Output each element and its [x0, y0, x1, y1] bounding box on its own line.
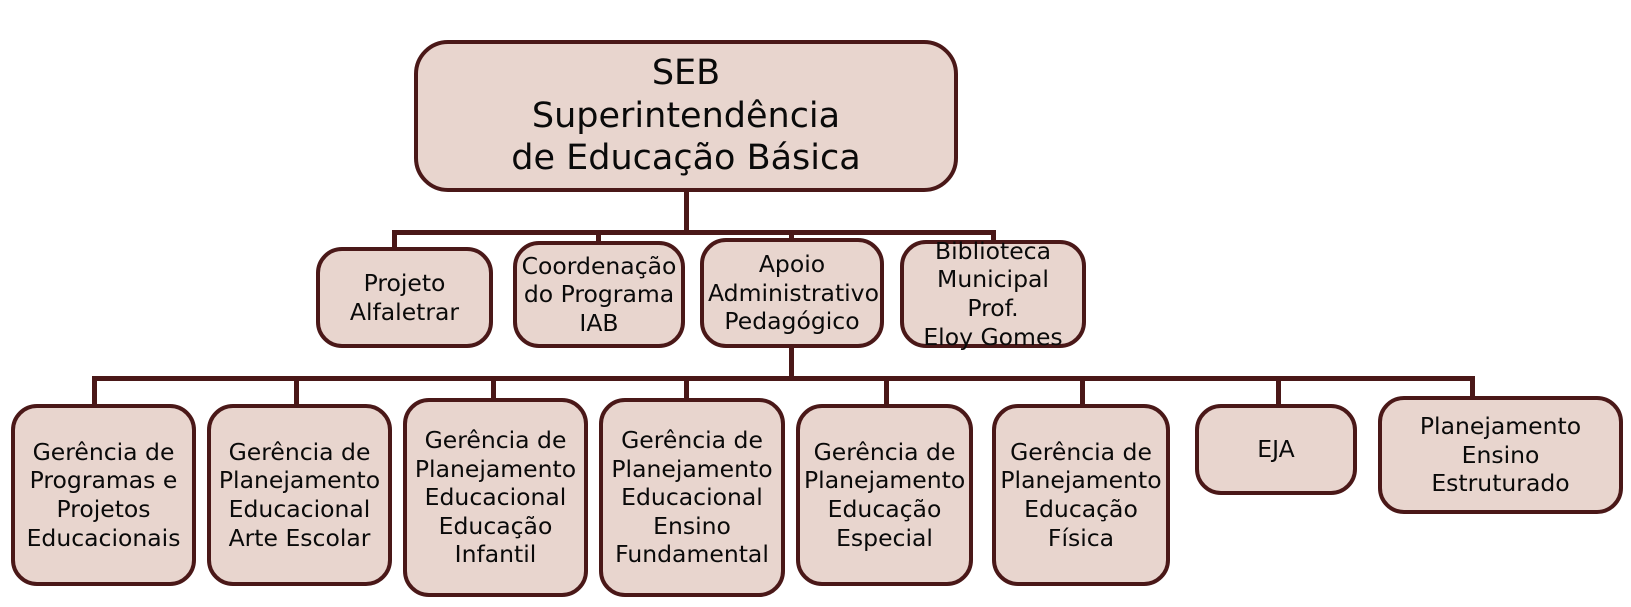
node-seb-root[interactable]: SEB Superintendência de Educação Básica	[414, 40, 958, 192]
connector-root-stem	[684, 190, 689, 234]
node-label: Gerência de Planejamento Educação Especi…	[800, 438, 969, 553]
node-projeto-alfaletrar[interactable]: Projeto Alfaletrar	[316, 247, 493, 348]
node-biblioteca-municipal-eloy-gomes[interactable]: Biblioteca Municipal Prof. Eloy Gomes	[900, 240, 1086, 348]
node-gerencia-planejamento-educacao-infantil[interactable]: Gerência de Planejamento Educacional Edu…	[403, 398, 588, 597]
node-gerencia-planejamento-ensino-fundamental[interactable]: Gerência de Planejamento Educacional Ens…	[599, 398, 785, 597]
node-eja[interactable]: EJA	[1195, 404, 1357, 495]
connector-level3-stem-6	[1080, 376, 1085, 407]
node-gerencia-planejamento-educacao-especial[interactable]: Gerência de Planejamento Educação Especi…	[796, 404, 973, 586]
node-label: EJA	[1199, 435, 1353, 464]
connector-level3-stem-1	[92, 376, 97, 407]
node-gerencia-planejamento-educacao-fisica[interactable]: Gerência de Planejamento Educação Física	[992, 404, 1170, 586]
node-gerencia-programas-projetos-educacionais[interactable]: Gerência de Programas e Projetos Educaci…	[11, 404, 196, 586]
connector-level3-stem-2	[294, 376, 299, 407]
node-label: Gerência de Planejamento Educação Física	[996, 438, 1166, 553]
node-label: Gerência de Programas e Projetos Educaci…	[15, 438, 192, 553]
node-label: Coordenação do Programa IAB	[517, 252, 681, 338]
node-label: Gerência de Planejamento Educacional Art…	[211, 438, 388, 553]
connector-level2-bus	[392, 230, 996, 235]
node-gerencia-planejamento-arte-escolar[interactable]: Gerência de Planejamento Educacional Art…	[207, 404, 392, 586]
node-coordenacao-programa-iab[interactable]: Coordenação do Programa IAB	[513, 241, 685, 348]
node-label: Projeto Alfaletrar	[320, 269, 489, 326]
connector-level3-bus	[92, 376, 1474, 381]
node-label: Gerência de Planejamento Educacional Edu…	[407, 426, 584, 569]
node-planejamento-ensino-estruturado[interactable]: Planejamento Ensino Estruturado	[1378, 396, 1623, 514]
node-label: Biblioteca Municipal Prof. Eloy Gomes	[904, 237, 1082, 352]
connector-level3-stem-5	[884, 376, 889, 407]
node-label: Planejamento Ensino Estruturado	[1382, 412, 1619, 498]
org-chart: SEB Superintendência de Educação Básica …	[0, 0, 1631, 607]
node-label: SEB Superintendência de Educação Básica	[418, 52, 954, 180]
node-label: Apoio Administrativo Pedagógico	[704, 250, 880, 336]
connector-level3-stem-7	[1276, 376, 1281, 407]
node-apoio-administrativo-pedagogico[interactable]: Apoio Administrativo Pedagógico	[700, 238, 884, 348]
node-label: Gerência de Planejamento Educacional Ens…	[603, 426, 781, 569]
